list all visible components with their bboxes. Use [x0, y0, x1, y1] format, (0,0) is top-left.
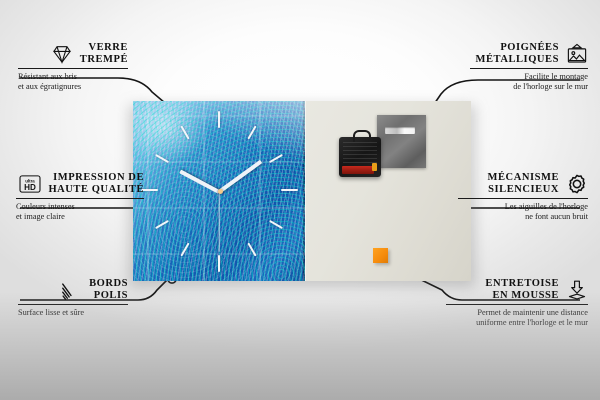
feature-title-line1: IMPRESSION DE — [48, 172, 144, 184]
mechanism-texture — [343, 142, 377, 164]
feature-mecanisme-silencieux: MÉCANISME SILENCIEUX Les aiguilles de l'… — [458, 172, 588, 222]
foam-spacer — [373, 248, 388, 263]
hand-cap — [218, 189, 223, 194]
battery-terminal — [372, 163, 377, 171]
feature-subtitle: Résistant aux bris et aux égratignures — [18, 72, 128, 92]
feature-entretoise-en-mousse: ENTRETOISE EN MOUSSE Permet de maintenir… — [446, 278, 588, 328]
feature-title: POIGNÉES MÉTALLIQUES — [476, 42, 559, 65]
feature-subtitle-line1: Facilite le montage — [470, 72, 588, 82]
feature-subtitle: Surface lisse et sûre — [18, 308, 128, 318]
polished-edges-icon — [60, 279, 82, 301]
feature-subtitle-line1: Permet de maintenir une distance — [446, 308, 588, 318]
feature-title-row: BORDS POLIS — [18, 278, 128, 301]
feature-title: BORDS POLIS — [89, 278, 128, 301]
feature-title-line2: EN MOUSSE — [485, 290, 559, 302]
feature-title-line1: VERRE — [80, 42, 128, 54]
feature-title-row: ENTRETOISE EN MOUSSE — [446, 278, 588, 301]
feature-subtitle-line2: de l'horloge sur le mur — [470, 82, 588, 92]
feature-title-line1: BORDS — [89, 278, 128, 290]
feature-subtitle: Les aiguilles de l'horloge ne font aucun… — [458, 202, 588, 222]
feature-title-row: VERRE TREMPÉ — [18, 42, 128, 65]
ultra-hd-icon: ultra HD — [19, 173, 41, 195]
feature-title-row: MÉCANISME SILENCIEUX — [458, 172, 588, 195]
feature-title-line2: TREMPÉ — [80, 54, 128, 66]
mechanism-hook — [353, 130, 371, 142]
feature-subtitle-line2: ne font aucun bruit — [458, 212, 588, 222]
divider — [16, 198, 144, 199]
feature-title-line1: POIGNÉES — [476, 42, 559, 54]
clock-mechanism — [339, 137, 381, 177]
feature-title-row: POIGNÉES MÉTALLIQUES — [470, 42, 588, 65]
clock-back-panel — [305, 101, 471, 281]
aa-battery — [342, 166, 374, 174]
feature-title-line2: MÉTALLIQUES — [476, 54, 559, 66]
feature-title-line2: HAUTE QUALITÉ — [48, 184, 144, 196]
feature-title-line1: ENTRETOISE — [485, 278, 559, 290]
feature-poignees-metalliques: POIGNÉES MÉTALLIQUES Facilite le montage… — [470, 42, 588, 92]
clock-face — [133, 101, 305, 281]
wall-frame-hanger-icon — [566, 43, 588, 65]
feature-title-line1: MÉCANISME — [488, 172, 559, 184]
feature-subtitle-line2: et image claire — [16, 212, 144, 222]
feature-title-row: ultra HD IMPRESSION DE HAUTE QUALITÉ — [16, 172, 144, 195]
feature-subtitle-line1: Couleurs intenses — [16, 202, 144, 212]
feature-subtitle-line1: Surface lisse et sûre — [18, 308, 128, 318]
feature-title-line2: SILENCIEUX — [488, 184, 559, 196]
feature-subtitle-line1: Les aiguilles de l'horloge — [458, 202, 588, 212]
divider — [458, 198, 588, 199]
tick-12 — [218, 111, 220, 128]
second-hand — [218, 192, 219, 252]
divider — [18, 304, 128, 305]
tick-3 — [281, 189, 298, 191]
feature-verre-trempe: VERRE TREMPÉ Résistant aux bris et aux é… — [18, 42, 128, 92]
feature-title-line2: POLIS — [89, 290, 128, 302]
svg-text:HD: HD — [25, 182, 37, 191]
metal-hanger-plate — [377, 115, 426, 168]
divider — [18, 68, 128, 69]
infographic-canvas: VERRE TREMPÉ Résistant aux bris et aux é… — [0, 0, 600, 400]
foam-spacer-arrow-icon — [566, 279, 588, 301]
feature-subtitle: Permet de maintenir une distance uniform… — [446, 308, 588, 328]
divider — [470, 68, 588, 69]
tick-6 — [218, 255, 220, 272]
diamond-icon — [51, 43, 73, 65]
feature-bords-polis: BORDS POLIS Surface lisse et sûre — [18, 278, 128, 318]
feature-title: IMPRESSION DE HAUTE QUALITÉ — [48, 172, 144, 195]
feature-subtitle-line2: et aux égratignures — [18, 82, 128, 92]
feature-title: ENTRETOISE EN MOUSSE — [485, 278, 559, 301]
feature-subtitle: Couleurs intenses et image claire — [16, 202, 144, 222]
feature-title: VERRE TREMPÉ — [80, 42, 128, 65]
feature-subtitle-line2: uniforme entre l'horloge et le mur — [446, 318, 588, 328]
feature-subtitle-line1: Résistant aux bris — [18, 72, 128, 82]
hanger-slot — [385, 127, 415, 134]
divider — [446, 304, 588, 305]
product-image — [133, 101, 471, 281]
feature-title: MÉCANISME SILENCIEUX — [488, 172, 559, 195]
feature-subtitle: Facilite le montage de l'horloge sur le … — [470, 72, 588, 92]
feature-impression-hd: ultra HD IMPRESSION DE HAUTE QUALITÉ Cou… — [16, 172, 144, 222]
gear-icon — [566, 173, 588, 195]
